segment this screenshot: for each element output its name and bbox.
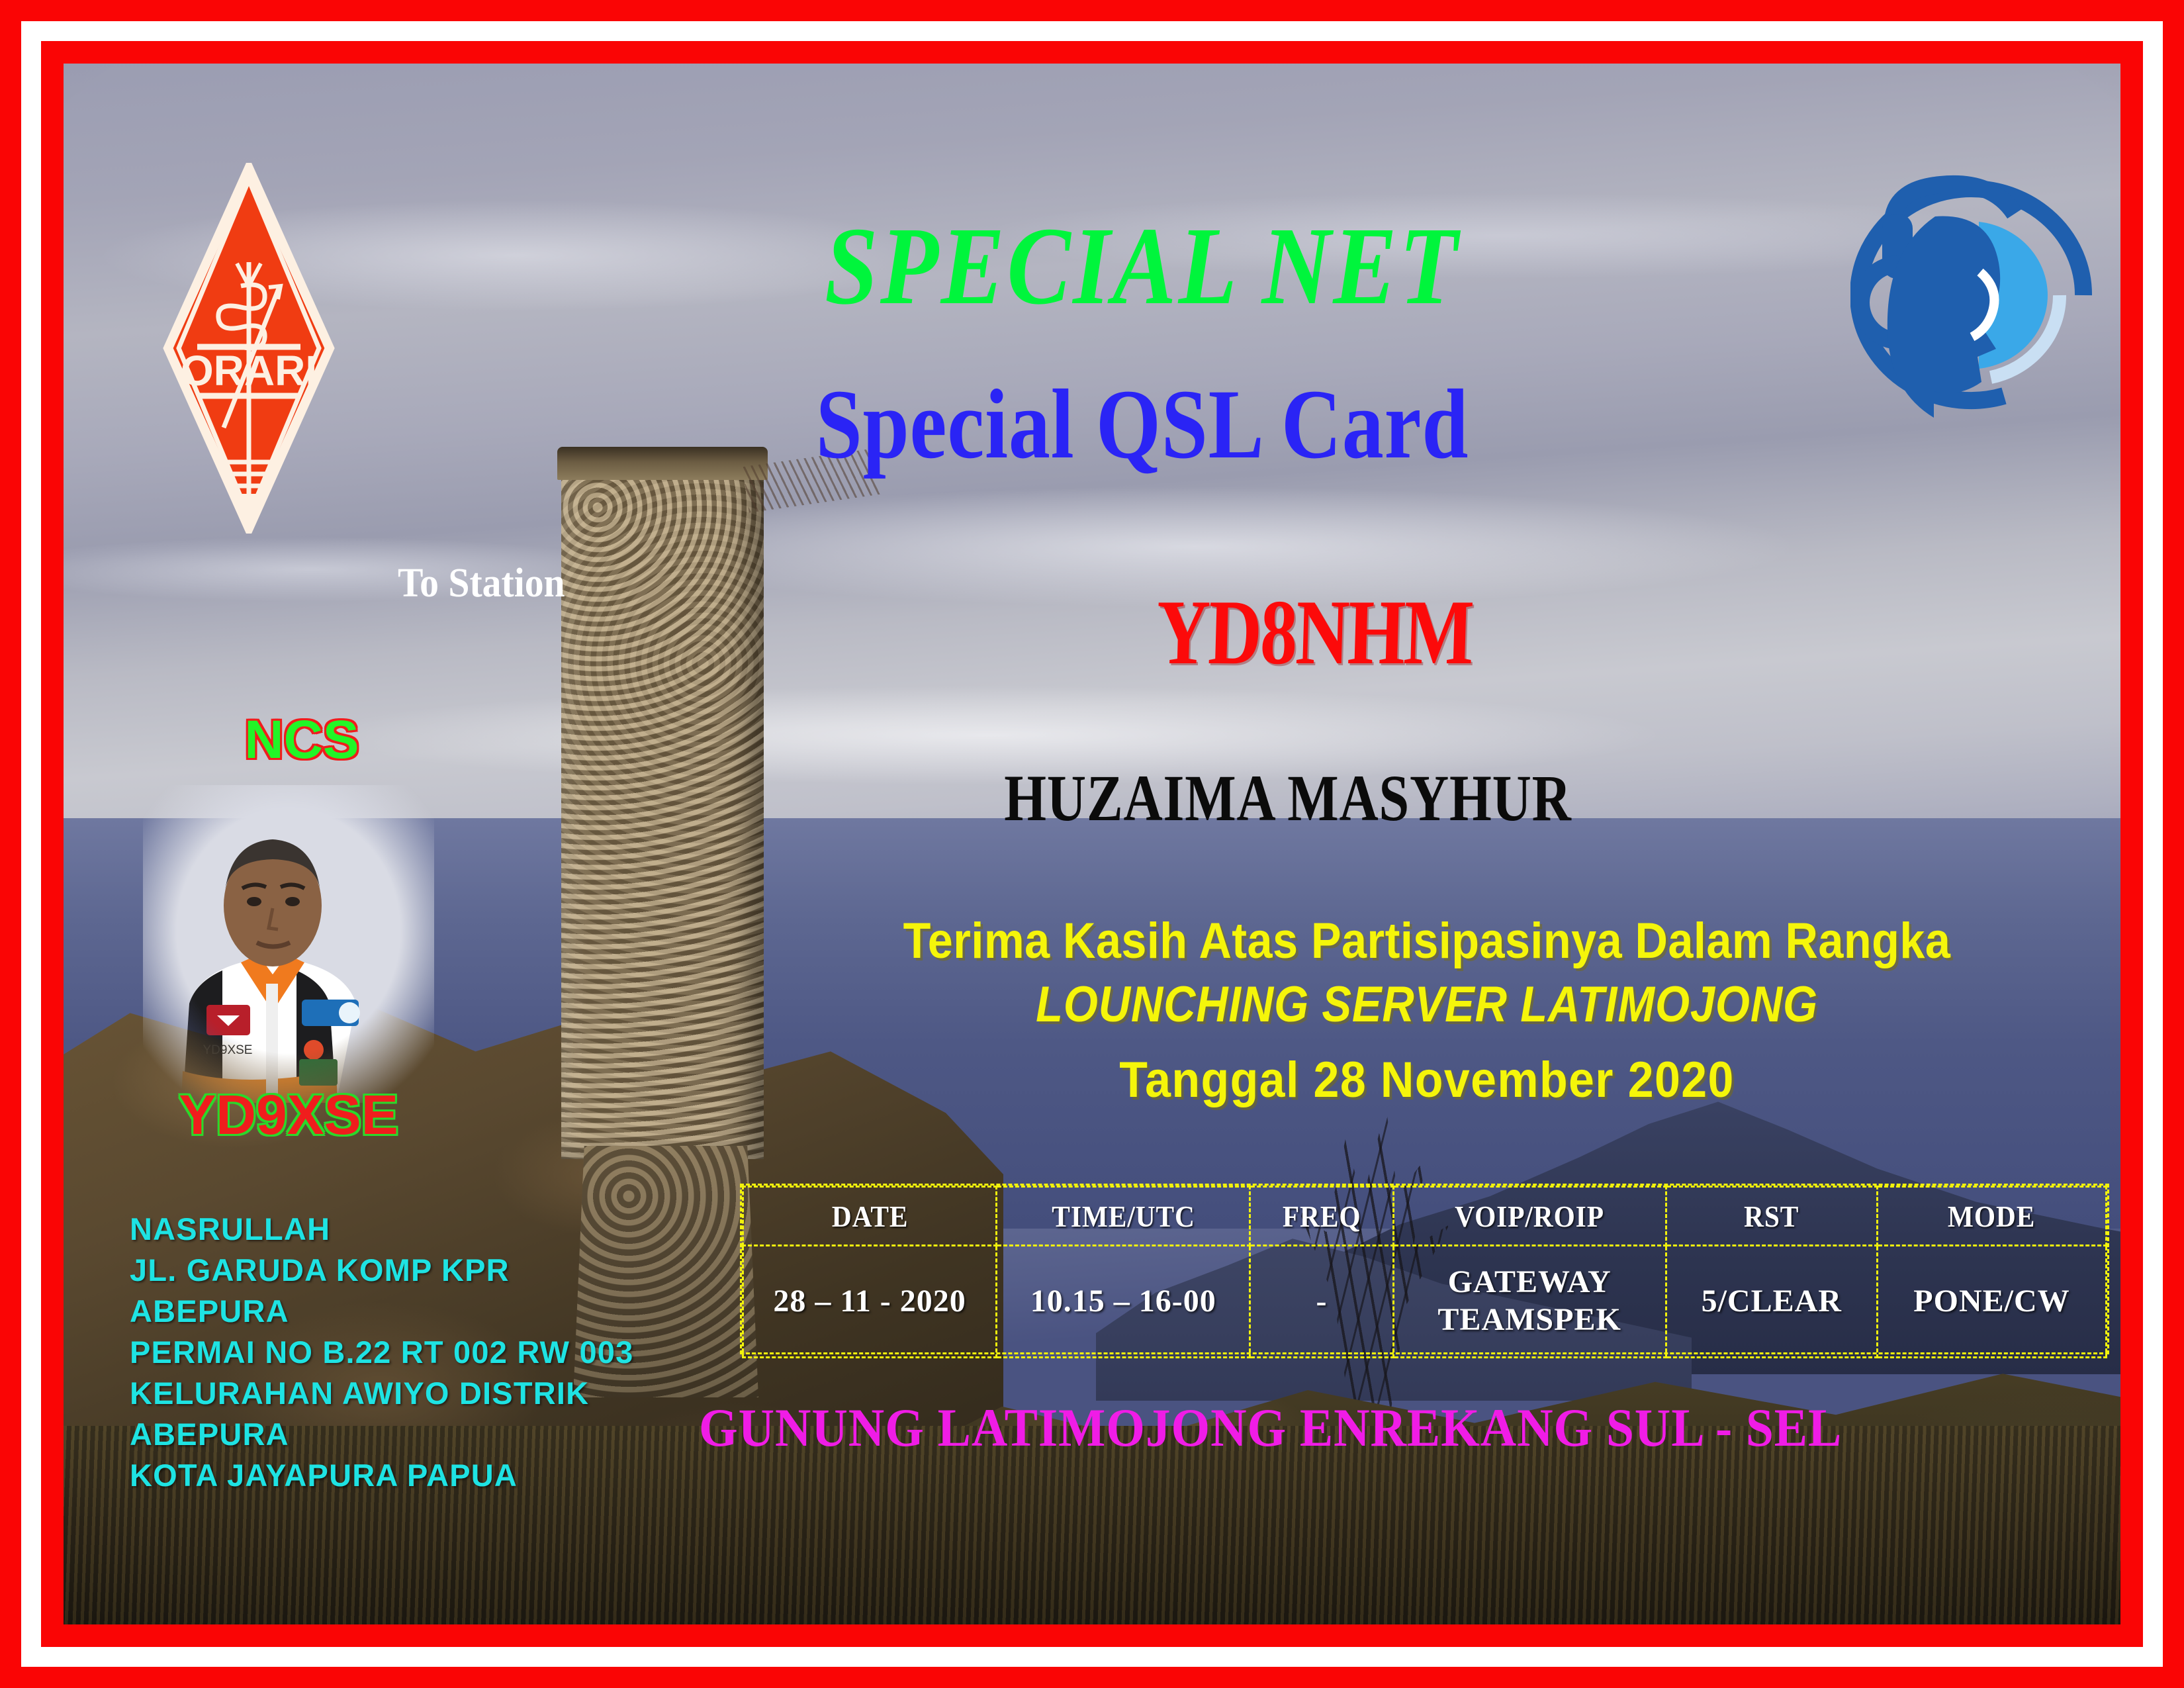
- mailing-address: NASRULLAH JL. GARUDA KOMP KPR ABEPURA PE…: [130, 1209, 633, 1496]
- cell-freq: -: [1250, 1246, 1393, 1358]
- card-photo-background: ORARI: [64, 64, 2120, 1624]
- recipient-operator-name: HUZAIMA MASYHUR: [935, 765, 1641, 831]
- cell-voip-line-1: GATEWAY: [1394, 1264, 1665, 1301]
- cell-mode: PONE/CW: [1877, 1246, 2106, 1358]
- headphone-head-profile-icon: [1850, 173, 2115, 418]
- location-caption: GUNUNG LATIMOJONG ENREKANG SUL - SEL: [699, 1401, 1856, 1455]
- recipient-callsign: YD8NHM: [995, 586, 1633, 679]
- card-subtitle: Special QSL Card: [619, 375, 1664, 474]
- address-line: KELURAHAN AWIYO DISTRIK: [130, 1373, 633, 1414]
- event-line-3: Tanggal 28 November 2020: [830, 1041, 2023, 1119]
- cell-voip-line-2: TEAMSPEK: [1394, 1301, 1665, 1339]
- column-header-mode: MODE: [1889, 1187, 2095, 1246]
- address-line: KOTA JAYAPURA PAPUA: [130, 1455, 633, 1496]
- address-line: ABEPURA: [130, 1291, 633, 1332]
- address-line: ABEPURA: [130, 1414, 633, 1455]
- operator-portrait-photo: YD9XSE: [143, 785, 434, 1103]
- table-header-row: DATE TIME/UTC FREQ VOIP/ROIP RST MODE: [743, 1187, 2107, 1246]
- svg-text:YD9XSE: YD9XSE: [203, 1043, 253, 1057]
- page-title: SPECIAL NET: [608, 211, 1678, 322]
- table-row: 28 – 11 - 2020 10.15 – 16-00 - GATEWAY T…: [743, 1246, 2107, 1358]
- event-line-1: Terima Kasih Atas Partisipasinya Dalam R…: [843, 914, 2011, 968]
- cell-date: 28 – 11 - 2020: [743, 1246, 997, 1358]
- cell-voip: GATEWAY TEAMSPEK: [1393, 1246, 1666, 1358]
- orari-logo-text: ORARI: [181, 347, 317, 395]
- ncs-label: NCS: [196, 709, 408, 771]
- address-line: PERMAI NO B.22 RT 002 RW 003: [130, 1332, 633, 1373]
- column-header-rst: RST: [1676, 1187, 1866, 1246]
- cell-rst: 5/CLEAR: [1666, 1246, 1877, 1358]
- cell-time: 10.15 – 16-00: [997, 1246, 1250, 1358]
- address-line: JL. GARUDA KOMP KPR: [130, 1250, 633, 1291]
- event-text-block: Terima Kasih Atas Partisipasinya Dalam R…: [778, 914, 2075, 1119]
- orari-logo: ORARI: [163, 163, 335, 534]
- qsl-card: ORARI: [0, 0, 2184, 1688]
- qso-log-table: DATE TIME/UTC FREQ VOIP/ROIP RST MODE 28…: [740, 1184, 2109, 1354]
- ncs-callsign: YD9XSE: [150, 1083, 428, 1147]
- column-header-freq: FREQ: [1257, 1187, 1387, 1246]
- column-header-time: TIME/UTC: [1009, 1187, 1238, 1246]
- event-line-2: LOUNCHING SERVER LATIMOJONG: [856, 968, 1998, 1041]
- column-header-date: DATE: [756, 1187, 984, 1246]
- to-station-label: To Station: [398, 560, 565, 607]
- card-content-layer: ORARI: [64, 64, 2120, 1624]
- column-header-voip: VOIP/ROIP: [1407, 1187, 1653, 1246]
- address-line: NASRULLAH: [130, 1209, 633, 1250]
